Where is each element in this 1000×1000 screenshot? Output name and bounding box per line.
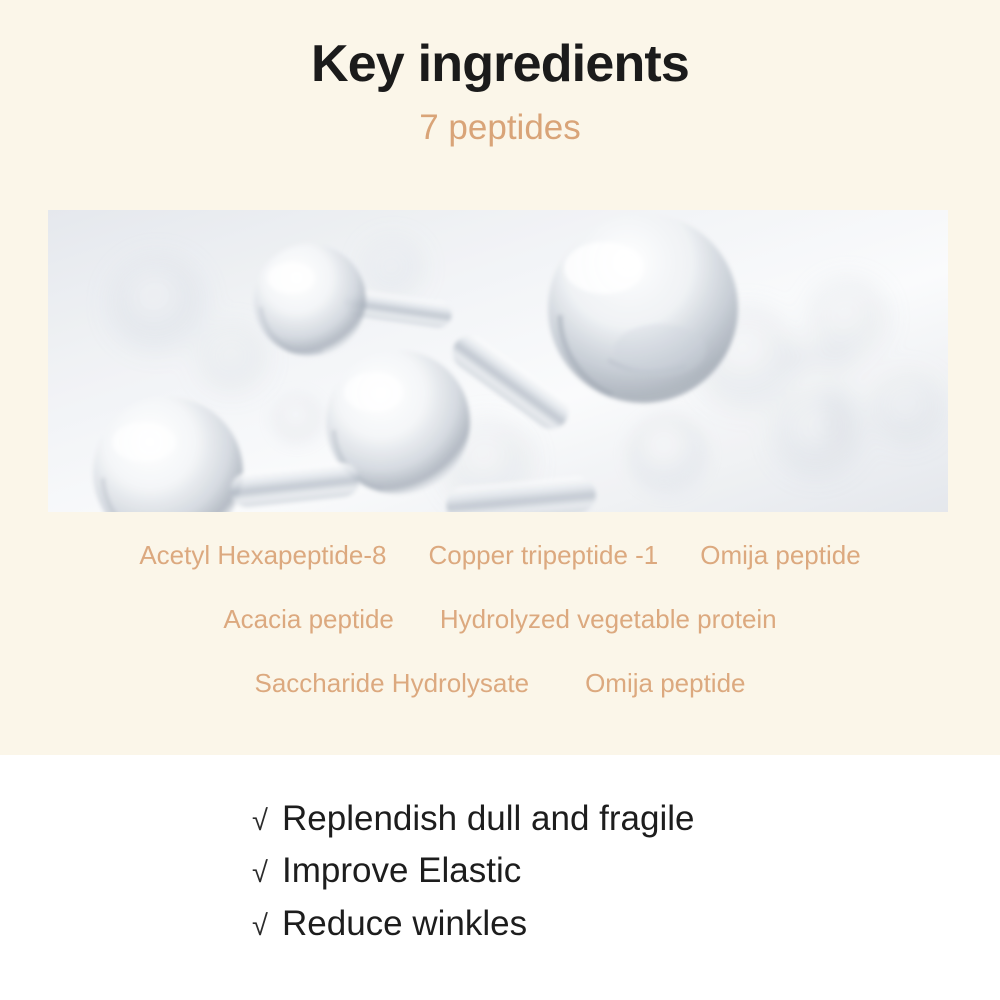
ingredient-item: Saccharide Hydrolysate — [255, 664, 530, 703]
ingredient-item: Acacia peptide — [223, 600, 394, 639]
page-title: Key ingredients — [0, 34, 1000, 95]
ingredient-item: Hydrolyzed vegetable protein — [440, 600, 777, 639]
check-icon: √ — [252, 905, 282, 945]
key-ingredients-section: Key ingredients 7 peptides — [0, 0, 1000, 755]
ingredient-item: Acetyl Hexapeptide-8 — [139, 536, 386, 575]
benefit-list-item: √ Improve Elastic — [252, 847, 695, 895]
benefit-list: √ Replendish dull and fragile √ Improve … — [252, 795, 695, 952]
page-subtitle: 7 peptides — [0, 108, 1000, 148]
check-icon: √ — [252, 852, 282, 892]
product-detail-page: Key ingredients 7 peptides — [0, 0, 1000, 1000]
ingredient-row: Acacia peptide Hydrolyzed vegetable prot… — [0, 600, 1000, 639]
check-icon: √ — [252, 800, 282, 840]
section-heading-block: Key ingredients 7 peptides — [0, 34, 1000, 149]
ingredient-list: Acetyl Hexapeptide-8 Copper tripeptide -… — [0, 536, 1000, 703]
ingredient-item: Omija peptide — [585, 664, 745, 703]
ingredient-item: Omija peptide — [700, 536, 860, 575]
benefit-label: Reduce winkles — [282, 900, 527, 948]
benefits-section: √ Replendish dull and fragile √ Improve … — [0, 755, 1000, 1000]
molecule-illustration — [48, 210, 948, 512]
benefit-label: Improve Elastic — [282, 847, 521, 895]
ingredient-row: Saccharide Hydrolysate Omija peptide — [0, 664, 1000, 703]
molecule-hero-image — [48, 210, 948, 512]
ingredient-row: Acetyl Hexapeptide-8 Copper tripeptide -… — [0, 536, 1000, 575]
benefit-list-item: √ Replendish dull and fragile — [252, 795, 695, 843]
ingredient-item: Copper tripeptide -1 — [428, 536, 658, 575]
benefit-list-item: √ Reduce winkles — [252, 900, 695, 948]
benefit-label: Replendish dull and fragile — [282, 795, 695, 843]
